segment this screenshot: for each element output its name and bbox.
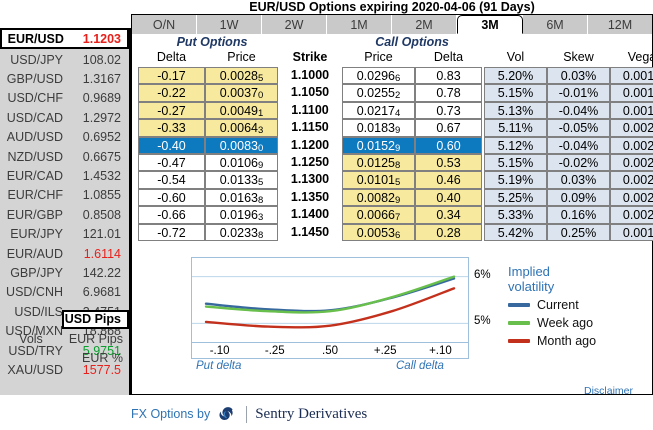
price-subdigit: 9: [258, 160, 263, 171]
tab-2w[interactable]: 2W: [262, 15, 327, 34]
vols-option-eur-pips[interactable]: EUR Pips: [62, 332, 129, 346]
call-options-group-label: Call Options: [337, 35, 487, 49]
cell-call-price[interactable]: 0.02552: [342, 84, 415, 101]
cell-strike[interactable]: 1.1350: [278, 189, 342, 206]
volatility-smile-chart: [191, 257, 469, 343]
legend-label: Current: [537, 298, 579, 312]
table-row[interactable]: -0.170.002851.10000.029660.835.20%0.03%0…: [132, 67, 652, 84]
options-table: -0.170.002851.10000.029660.835.20%0.03%0…: [132, 67, 652, 241]
fx-rate-row[interactable]: USD/JPY108.02: [0, 50, 129, 69]
cell-put-delta[interactable]: -0.22: [138, 84, 205, 101]
col-put-price-header: Price: [205, 50, 278, 64]
fx-pair-label: USD/CNH: [0, 285, 70, 299]
fx-rate-row[interactable]: EUR/CHF1.0855: [0, 186, 129, 205]
cell-put-delta[interactable]: -0.66: [138, 206, 205, 223]
vols-label: Vols: [0, 332, 62, 346]
footer-prefix: FX Options by: [131, 407, 210, 421]
footer: FX Options by Sentry Derivatives: [131, 402, 653, 426]
cell-put-delta[interactable]: -0.17: [138, 67, 205, 84]
cell-vega[interactable]: 0.0020: [610, 206, 653, 223]
cell-strike[interactable]: 1.1150: [278, 119, 342, 136]
col-call-delta-header: Delta: [415, 50, 482, 64]
cell-vega[interactable]: 0.0017: [610, 84, 653, 101]
tab-on[interactable]: O/N: [132, 15, 197, 34]
cell-vol[interactable]: 5.19%: [484, 171, 547, 188]
price-subdigit: 5: [395, 177, 400, 188]
fx-rate-value: 6.9681: [70, 285, 127, 299]
fx-options-app: EUR/USD Options expiring 2020-04-06 (91 …: [0, 0, 653, 430]
cell-vol[interactable]: 5.33%: [484, 206, 547, 223]
table-row[interactable]: -0.600.016381.13500.008290.405.25%0.09%0…: [132, 189, 652, 206]
legend-item[interactable]: Current: [508, 298, 638, 312]
table-row[interactable]: -0.720.023381.14500.005360.285.42%0.25%0…: [132, 224, 652, 241]
vols-option-row[interactable]: USD Pips: [0, 310, 129, 329]
table-row[interactable]: -0.540.013351.13000.010150.465.19%0.03%0…: [132, 171, 652, 188]
cell-put-price[interactable]: 0.01069: [205, 154, 278, 171]
table-row[interactable]: -0.220.003701.10500.025520.785.15%-0.01%…: [132, 84, 652, 101]
price-subdigit: 5: [258, 73, 263, 84]
vols-unit-selector: USD PipsVolsEUR PipsEUR %: [0, 310, 129, 368]
tenor-tabs[interactable]: O/N1W2W1M2M3M6M12M: [132, 15, 652, 34]
fx-rate-row[interactable]: USD/CNH6.9681: [0, 283, 129, 302]
cell-vega[interactable]: 0.0019: [610, 224, 653, 241]
chart-svg: [192, 258, 468, 342]
cell-vega[interactable]: 0.0020: [610, 119, 653, 136]
fx-rate-value: 0.8508: [70, 208, 127, 222]
cell-call-delta[interactable]: 0.83: [415, 67, 482, 84]
cell-skew[interactable]: 0.03%: [547, 171, 610, 188]
cell-put-price[interactable]: 0.00643: [205, 119, 278, 136]
vols-option-row[interactable]: EUR %: [0, 349, 129, 368]
fx-pair-label: NZD/USD: [0, 150, 70, 164]
fx-pair-label: AUD/USD: [0, 130, 70, 144]
cell-skew[interactable]: -0.01%: [547, 84, 610, 101]
cell-put-delta[interactable]: -0.72: [138, 224, 205, 241]
fx-rate-row[interactable]: AUD/USD0.6952: [0, 128, 129, 147]
chart-legend: Implied volatility CurrentWeek agoMonth …: [508, 264, 638, 348]
put-options-group-label: Put Options: [137, 35, 287, 49]
fx-pair-label: EUR/USD: [2, 32, 71, 46]
put-delta-axis-label: Put delta: [196, 360, 241, 372]
fx-rate-value: 1.1203: [71, 32, 127, 46]
call-delta-axis-label: Call delta: [396, 360, 444, 372]
fx-rate-value: 0.9689: [70, 91, 127, 105]
fx-rate-row[interactable]: NZD/USD0.6675: [0, 147, 129, 166]
cell-call-delta[interactable]: 0.73: [415, 102, 482, 119]
cell-call-price[interactable]: 0.01839: [342, 119, 415, 136]
cell-put-price[interactable]: 0.02338: [205, 224, 278, 241]
tab-1w[interactable]: 1W: [197, 15, 262, 34]
cell-put-delta[interactable]: -0.27: [138, 102, 205, 119]
cell-strike[interactable]: 1.1250: [278, 154, 342, 171]
price-subdigit: 2: [395, 90, 400, 101]
fx-rate-row[interactable]: EUR/JPY121.01: [0, 225, 129, 244]
legend-item[interactable]: Week ago: [508, 316, 638, 330]
cell-put-price[interactable]: 0.01638: [205, 189, 278, 206]
table-row[interactable]: -0.660.019631.14000.006670.345.33%0.16%0…: [132, 206, 652, 223]
table-row[interactable]: -0.470.010691.12500.012580.535.15%-0.02%…: [132, 154, 652, 171]
cell-call-delta[interactable]: 0.46: [415, 171, 482, 188]
cell-call-delta[interactable]: 0.53: [415, 154, 482, 171]
vols-option-usd-pips[interactable]: USD Pips: [62, 310, 129, 329]
cell-call-price[interactable]: 0.01258: [342, 154, 415, 171]
price-subdigit: 0: [258, 90, 263, 101]
cell-call-delta[interactable]: 0.28: [415, 224, 482, 241]
fx-rates-sidebar: EUR/USD1.1203USD/JPY108.02GBP/USD1.3167U…: [0, 28, 131, 395]
y-tick-6pct: 6%: [474, 269, 491, 281]
cell-put-delta[interactable]: -0.60: [138, 189, 205, 206]
cell-put-delta[interactable]: -0.54: [138, 171, 205, 188]
tab-6m[interactable]: 6M: [523, 15, 588, 34]
table-row[interactable]: -0.270.004911.11000.021740.735.13%-0.04%…: [132, 102, 652, 119]
fx-rate-row[interactable]: EUR/CAD1.4532: [0, 166, 129, 185]
fx-pair-label: EUR/AUD: [0, 247, 70, 261]
price-subdigit: 5: [258, 177, 263, 188]
fx-rate-value: 121.01: [70, 227, 127, 241]
sentry-logo-icon: [216, 405, 238, 423]
x-tick-2: .50: [302, 345, 357, 357]
cell-put-price[interactable]: 0.01963: [205, 206, 278, 223]
fx-rate-row[interactable]: GBP/JPY142.22: [0, 263, 129, 282]
fx-rate-row[interactable]: GBP/USD1.3167: [0, 69, 129, 88]
cell-call-price[interactable]: 0.01529: [342, 137, 415, 154]
cell-strike[interactable]: 1.1300: [278, 171, 342, 188]
fx-rate-row[interactable]: USD/CAD1.2972: [0, 108, 129, 127]
tab-1m[interactable]: 1M: [327, 15, 392, 34]
cell-call-delta[interactable]: 0.78: [415, 84, 482, 101]
chart-curves: [206, 277, 454, 328]
cell-vega[interactable]: 0.0022: [610, 137, 653, 154]
cell-call-price[interactable]: 0.00536: [342, 224, 415, 241]
fx-rate-row[interactable]: EUR/USD1.1203: [0, 28, 129, 49]
cell-vega[interactable]: 0.0014: [610, 67, 653, 84]
cell-put-price[interactable]: 0.01335: [205, 171, 278, 188]
col-call-price-header: Price: [342, 50, 415, 64]
price-subdigit: 0: [258, 143, 263, 154]
fx-pair-label: USD/JPY: [0, 53, 70, 67]
cell-vol[interactable]: 5.20%: [484, 67, 547, 84]
cell-call-price[interactable]: 0.01015: [342, 171, 415, 188]
price-subdigit: 7: [395, 212, 400, 223]
tab-3m[interactable]: 3M: [457, 15, 523, 34]
legend-label: Week ago: [537, 316, 593, 330]
fx-rate-row[interactable]: USD/CHF0.9689: [0, 89, 129, 108]
legend-title-line1: Implied: [508, 264, 638, 279]
cell-call-price[interactable]: 0.00829: [342, 189, 415, 206]
cell-strike[interactable]: 1.1000: [278, 67, 342, 84]
price-subdigit: 9: [395, 125, 400, 136]
cell-skew[interactable]: 0.16%: [547, 206, 610, 223]
price-subdigit: 4: [395, 108, 400, 119]
x-tick-0: -.10: [192, 345, 247, 357]
col-vol-header: Vol: [484, 50, 547, 64]
chart-x-axis: -.10-.25.50+.25+.10: [191, 343, 469, 359]
col-put-delta-header: Delta: [138, 50, 205, 64]
cell-call-delta[interactable]: 0.60: [415, 137, 482, 154]
cell-skew[interactable]: 0.09%: [547, 189, 610, 206]
cell-call-price[interactable]: 0.02174: [342, 102, 415, 119]
price-subdigit: 3: [258, 212, 263, 223]
x-tick-4: +.10: [413, 345, 468, 357]
fx-rate-value: 1.2972: [70, 111, 127, 125]
table-row[interactable]: -0.330.006431.11500.018390.675.11%-0.05%…: [132, 119, 652, 136]
group-headers: Put Options Call Options: [132, 35, 652, 50]
fx-rate-row[interactable]: EUR/AUD1.6114: [0, 244, 129, 263]
curve-current: [206, 279, 454, 312]
fx-pair-label: EUR/CHF: [0, 188, 70, 202]
price-subdigit: 1: [258, 108, 263, 119]
table-row[interactable]: -0.400.008301.12000.015290.605.12%-0.04%…: [132, 137, 652, 154]
cell-vega[interactable]: 0.0022: [610, 171, 653, 188]
price-subdigit: 8: [258, 230, 263, 241]
column-headers: DeltaPriceStrikePriceDeltaVolSkewVega: [132, 50, 652, 67]
cell-skew[interactable]: -0.04%: [547, 137, 610, 154]
cell-skew[interactable]: 0.25%: [547, 224, 610, 241]
y-tick-5pct: 5%: [474, 315, 491, 327]
fx-rate-value: 142.22: [70, 266, 127, 280]
cell-vol[interactable]: 5.11%: [484, 119, 547, 136]
fx-pair-label: EUR/CAD: [0, 169, 70, 183]
cell-vol[interactable]: 5.13%: [484, 102, 547, 119]
cell-call-delta[interactable]: 0.40: [415, 189, 482, 206]
cell-strike[interactable]: 1.1050: [278, 84, 342, 101]
fx-pair-label: GBP/USD: [0, 72, 70, 86]
cell-call-price[interactable]: 0.02966: [342, 67, 415, 84]
cell-skew[interactable]: -0.05%: [547, 119, 610, 136]
price-subdigit: 6: [395, 73, 400, 84]
cell-put-delta[interactable]: -0.33: [138, 119, 205, 136]
x-tick-3: +.25: [358, 345, 413, 357]
fx-pair-label: USD/CHF: [0, 91, 70, 105]
fx-rate-value: 1.6114: [70, 247, 127, 261]
vols-option-eur[interactable]: EUR %: [62, 351, 129, 365]
cell-strike[interactable]: 1.1450: [278, 224, 342, 241]
cell-put-delta[interactable]: -0.47: [138, 154, 205, 171]
cell-vol[interactable]: 5.42%: [484, 224, 547, 241]
cell-call-delta[interactable]: 0.34: [415, 206, 482, 223]
cell-put-delta[interactable]: -0.40: [138, 137, 205, 154]
tab-2m[interactable]: 2M: [392, 15, 457, 34]
cell-vega[interactable]: 0.0021: [610, 189, 653, 206]
fx-pair-label: EUR/GBP: [0, 208, 70, 222]
fx-rate-value: 1.0855: [70, 188, 127, 202]
price-subdigit: 8: [395, 160, 400, 171]
cell-skew[interactable]: 0.03%: [547, 67, 610, 84]
cell-vega[interactable]: 0.0022: [610, 154, 653, 171]
cell-vol[interactable]: 5.25%: [484, 189, 547, 206]
fx-rate-row[interactable]: EUR/GBP0.8508: [0, 205, 129, 224]
fx-rate-value: 108.02: [70, 53, 127, 67]
legend-items: CurrentWeek agoMonth ago: [508, 298, 638, 348]
legend-label: Month ago: [537, 334, 596, 348]
cell-vol[interactable]: 5.15%: [484, 154, 547, 171]
fx-pair-label: USD/CAD: [0, 111, 70, 125]
cell-strike[interactable]: 1.1200: [278, 137, 342, 154]
cell-vega[interactable]: 0.0019: [610, 102, 653, 119]
cell-call-price[interactable]: 0.00667: [342, 206, 415, 223]
fx-rate-value: 1.3167: [70, 72, 127, 86]
legend-swatch-icon: [508, 303, 530, 307]
price-subdigit: 6: [395, 230, 400, 241]
cell-skew[interactable]: -0.02%: [547, 154, 610, 171]
cell-put-price[interactable]: 0.00370: [205, 84, 278, 101]
col-strike-header: Strike: [278, 50, 342, 64]
disclaimer-link[interactable]: Disclaimer: [584, 385, 633, 397]
page-title: EUR/USD Options expiring 2020-04-06 (91 …: [131, 0, 653, 14]
fx-pair-label: GBP/JPY: [0, 266, 70, 280]
legend-item[interactable]: Month ago: [508, 334, 638, 348]
col-vega-header: Vega: [610, 50, 653, 64]
cell-put-price[interactable]: 0.00830: [205, 137, 278, 154]
legend-swatch-icon: [508, 339, 530, 343]
cell-vol[interactable]: 5.15%: [484, 84, 547, 101]
fx-pair-label: EUR/JPY: [0, 227, 70, 241]
cell-put-price[interactable]: 0.00491: [205, 102, 278, 119]
price-subdigit: 8: [258, 195, 263, 206]
fx-rate-value: 0.6675: [70, 150, 127, 164]
cell-strike[interactable]: 1.1400: [278, 206, 342, 223]
cell-strike[interactable]: 1.1100: [278, 102, 342, 119]
price-subdigit: 9: [395, 143, 400, 154]
price-subdigit: 3: [258, 125, 263, 136]
fx-rate-value: 0.6952: [70, 130, 127, 144]
legend-swatch-icon: [508, 321, 530, 325]
fx-rate-value: 1.4532: [70, 169, 127, 183]
vols-option-row[interactable]: VolsEUR Pips: [0, 329, 129, 348]
price-subdigit: 9: [395, 195, 400, 206]
col-skew-header: Skew: [547, 50, 610, 64]
cell-vol[interactable]: 5.12%: [484, 137, 547, 154]
footer-brand: Sentry Derivatives: [255, 406, 367, 423]
x-tick-1: -.25: [247, 345, 302, 357]
tab-12m[interactable]: 12M: [588, 15, 652, 34]
legend-title-line2: volatility: [508, 279, 638, 294]
cell-call-delta[interactable]: 0.67: [415, 119, 482, 136]
footer-divider: [246, 406, 247, 423]
cell-skew[interactable]: -0.04%: [547, 102, 610, 119]
cell-put-price[interactable]: 0.00285: [205, 67, 278, 84]
